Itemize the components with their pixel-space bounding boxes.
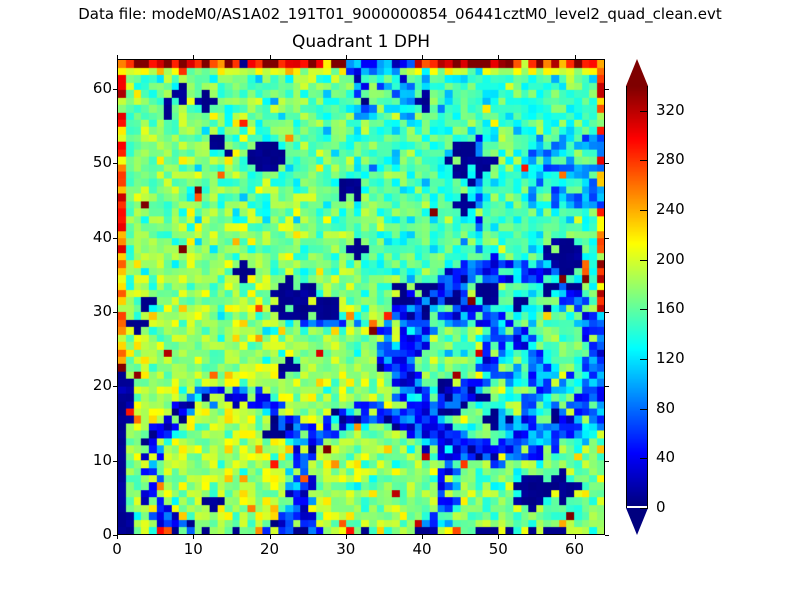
x-tick-mark-top <box>270 55 271 59</box>
colorbar-gradient <box>626 86 648 508</box>
y-tick-mark <box>113 312 117 313</box>
y-tick-mark-right <box>605 461 609 462</box>
x-tick-label: 20 <box>240 540 300 558</box>
y-tick-mark-right <box>605 386 609 387</box>
colorbar-extend-under-arrow-icon <box>626 508 648 535</box>
colorbar-tick-label: 280 <box>656 150 685 168</box>
heatmap-axes <box>117 59 605 535</box>
colorbar-tick-mark <box>640 409 648 410</box>
x-tick-mark <box>422 535 423 539</box>
colorbar-canvas <box>627 86 647 506</box>
colorbar-tick-label: 40 <box>656 448 675 466</box>
dph-heatmap-image <box>118 60 604 534</box>
colorbar-tick-mark <box>640 359 648 360</box>
colorbar-tick-mark <box>640 210 648 211</box>
y-tick-mark <box>113 386 117 387</box>
x-tick-mark <box>117 535 118 539</box>
y-tick-label: 30 <box>62 302 112 320</box>
x-tick-mark-top <box>575 55 576 59</box>
x-tick-mark <box>575 535 576 539</box>
colorbar-tick-mark <box>640 309 648 310</box>
x-tick-label: 60 <box>545 540 605 558</box>
x-tick-label: 50 <box>468 540 528 558</box>
x-tick-label: 10 <box>163 540 223 558</box>
y-tick-label: 10 <box>62 451 112 469</box>
y-tick-mark-right <box>605 312 609 313</box>
x-tick-mark-top <box>193 55 194 59</box>
colorbar-tick-mark <box>640 260 648 261</box>
colorbar-tick-label: 120 <box>656 349 685 367</box>
y-tick-label: 60 <box>62 79 112 97</box>
colorbar-tick-mark <box>640 111 648 112</box>
x-tick-mark-top <box>346 55 347 59</box>
x-tick-mark <box>193 535 194 539</box>
y-tick-mark <box>113 535 117 536</box>
y-tick-mark-right <box>605 238 609 239</box>
colorbar-tick-label: 160 <box>656 299 685 317</box>
y-tick-mark <box>113 238 117 239</box>
y-tick-label: 40 <box>62 228 112 246</box>
y-tick-mark-right <box>605 163 609 164</box>
colorbar-tick-label: 320 <box>656 101 685 119</box>
y-tick-mark <box>113 163 117 164</box>
y-tick-mark <box>113 89 117 90</box>
x-tick-mark-top <box>422 55 423 59</box>
colorbar-tick-mark <box>640 508 648 509</box>
x-tick-mark <box>270 535 271 539</box>
x-tick-mark <box>346 535 347 539</box>
x-tick-mark-top <box>117 55 118 59</box>
data-file-suptitle: Data file: modeM0/AS1A02_191T01_90000008… <box>0 5 800 23</box>
y-tick-label: 0 <box>62 525 112 543</box>
y-tick-mark <box>113 461 117 462</box>
page-title: Quadrant 1 DPH <box>117 32 605 52</box>
matplotlib-figure: Data file: modeM0/AS1A02_191T01_90000008… <box>0 0 800 600</box>
colorbar-tick-label: 240 <box>656 200 685 218</box>
x-tick-mark <box>498 535 499 539</box>
colorbar: 04080120160200240280320 <box>626 59 648 535</box>
y-tick-mark-right <box>605 535 609 536</box>
colorbar-tick-mark <box>640 458 648 459</box>
colorbar-tick-label: 0 <box>656 498 666 516</box>
colorbar-extend-over-arrow-icon <box>626 59 648 86</box>
colorbar-tick-mark <box>640 160 648 161</box>
y-tick-mark-right <box>605 89 609 90</box>
colorbar-tick-label: 200 <box>656 250 685 268</box>
y-tick-label: 50 <box>62 153 112 171</box>
x-tick-label: 40 <box>392 540 452 558</box>
colorbar-tick-label: 80 <box>656 399 675 417</box>
y-tick-label: 20 <box>62 376 112 394</box>
x-tick-mark-top <box>498 55 499 59</box>
x-tick-label: 30 <box>316 540 376 558</box>
